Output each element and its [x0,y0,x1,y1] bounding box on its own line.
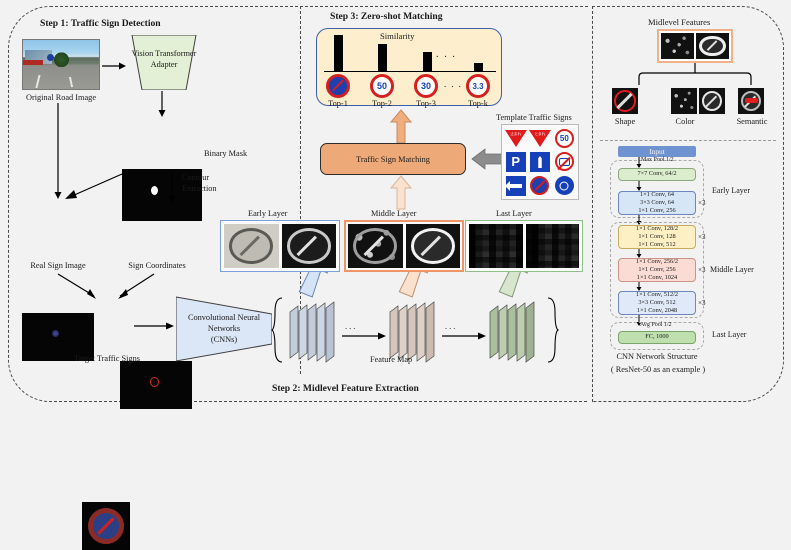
sign-coordinates-image [120,361,192,409]
contour-extraction-label-line2: Extraction [182,184,217,193]
rank-sign-ellipsis: . . . [444,80,462,90]
arrow-target-to-cnn [134,320,174,332]
cnn-label-line3: (CNNs) [176,335,272,344]
traffic-sign-matching-label: Traffic Sign Matching [356,155,430,164]
semantic-branch-label: Semantic [726,117,778,126]
cnn-block-conv5x-line3: 1×1 Conv, 2048 [619,307,695,315]
last-layer-label: Last Layer [496,209,532,218]
template-sign-yield-text: とまれ [532,132,548,137]
cnn-block-conv1: 7×7 Conv, 64/2 [618,168,696,181]
cnn-max-pool-label: Max Pool 1/2 [641,157,674,163]
cnn-block-conv3x-line3: 1×1 Conv, 512 [619,241,695,249]
cnn-block-conv4x-line3: 1×1 Conv, 1024 [619,274,695,282]
template-sign-pedestrian-crossing[interactable] [528,151,551,174]
template-traffic-signs-title: Template Traffic Signs [496,113,572,122]
rank-label-top-k: Top-k [460,99,496,108]
arrow-matching-to-similarity [390,110,412,144]
midlevel-features-title: Midlevel Features [648,18,710,27]
cnn-block-conv1-line1: 7×7 Conv, 64/2 [619,170,695,178]
midlevel-feature-tile-1 [661,33,694,59]
color-branch-label: Color [660,117,710,126]
template-traffic-signs-grid: 止まれ とまれ 50 P [501,124,579,200]
rank-label-top-1: Top-1 [320,99,356,108]
feature-map-label: Feature Map [370,355,412,364]
bar-top-3 [423,52,432,71]
feature-stack-early [288,298,342,371]
last-layer-panel [465,220,583,272]
rank-label-top-2: Top-2 [364,99,400,108]
arrow-vit-to-mask [156,91,168,117]
early-feature-tile-1 [224,224,279,268]
last-feature-tile-2 [526,224,580,268]
bar-chart-baseline [324,71,496,72]
template-sign-parking-text: P [506,152,526,172]
cnn-block-fc: FC, 1000 [618,331,696,344]
midlevel-branch-connector [625,63,771,87]
bar-chart-ellipsis: . . . [436,49,457,60]
middle-feature-tile-1 [348,224,403,268]
target-traffic-signs-label: Target Traffic Signs [62,354,152,363]
template-sign-yield[interactable]: とまれ [528,127,551,150]
cnn-block-conv4x-line1: 1×1 Conv, 256/2 [619,258,695,266]
cnn-block-conv5x-line2: 3×3 Conv, 512 [619,299,695,307]
sign-coordinates-label: Sign Coordinates [116,261,198,270]
arrow-coordinates-to-target [114,274,158,302]
arrow-mask-to-real-sign [62,172,124,204]
arrow-features-to-matching [390,176,412,210]
arrow-conv3x-to-conv4x [634,249,644,258]
cnn-structure-title: CNN Network Structure [607,352,707,361]
cnn-block-conv4x-line2: 1×1 Conv, 256 [619,266,695,274]
middle-layer-label: Middle Layer [371,209,416,218]
template-sign-no-parking[interactable] [528,174,551,197]
rank-sign-top-2: 50 [370,74,394,98]
rank-label-top-3: Top-3 [408,99,444,108]
vit-adapter-label-line1: Vision Transformer [122,49,206,58]
last-feature-tile-1 [469,224,523,268]
semantic-feature-tile [738,88,764,114]
early-layer-label: Early Layer [248,209,287,218]
middle-layer-panel [344,220,464,272]
template-sign-speed-limit-50-text: 50 [560,134,569,143]
template-sign-stop[interactable]: 止まれ [504,127,527,150]
cnn-block-conv3x-repeat: ×3 [698,233,705,241]
real-sign-image-label: Real Sign Image [16,261,100,270]
arrow-real-sign-to-target [58,274,102,302]
bar-top-2 [378,44,387,71]
rank-sign-top-1 [326,74,350,98]
bar-top-1 [334,35,343,71]
cnn-block-conv3x-line2: 1×1 Conv, 128 [619,233,695,241]
cnn-label-line2: Networks [176,324,272,333]
cnn-block-conv3x-line1: 1×1 Conv, 128/2 [619,225,695,233]
binary-mask-label: Binary Mask [204,149,247,158]
figure-canvas: Step 1: Traffic Sign Detection Original … [0,0,791,409]
rank-sign-top-2-text: 50 [377,81,387,91]
step1-title: Step 1: Traffic Sign Detection [40,18,161,29]
feature-map-brace [546,296,558,364]
midlevel-feature-tile-2 [696,33,729,59]
shape-branch-label: Shape [600,117,650,126]
cnn-output-brace [272,296,284,364]
similarity-bar-chart [326,33,494,71]
cnn-block-conv5x: 1×1 Conv, 512/2 3×3 Conv, 512 1×1 Conv, … [618,291,696,315]
color-feature-tiles [671,88,725,114]
cnn-label-line1: Convolutional Neural [176,313,272,322]
step3-title: Step 3: Zero-shot Matching [330,11,443,22]
cnn-structure-subtitle: ( ResNet-50 as an example ) [600,365,716,374]
rank-sign-top-k-text: 3.3 [472,82,483,91]
vit-adapter-label-line2: Adapter [122,60,206,69]
rank-sign-top-k: 3.3 [466,74,490,98]
contour-extraction-label-line1: Contour [182,173,209,182]
cnn-block-conv5x-repeat: ×3 [698,299,705,307]
feature-stack-last [488,298,542,371]
template-sign-parking[interactable]: P [504,151,527,174]
midlevel-cnn-divider [600,140,776,141]
original-road-image-label: Original Road Image [12,93,110,102]
cnn-input-block: Input [618,146,696,157]
cnn-block-conv3x: 1×1 Conv, 128/2 1×1 Conv, 128 1×1 Conv, … [618,225,696,249]
cnn-block-conv2x-line1: 1×1 Conv, 64 [619,191,695,199]
cnn-last-layer-label: Last Layer [712,330,746,339]
cnn-block-conv2x-line3: 1×1 Conv, 256 [619,207,695,215]
template-sign-no-bicycle[interactable] [553,151,576,174]
early-layer-panel [220,220,340,272]
step2-title: Step 2: Midlevel Feature Extraction [272,383,419,394]
right-panel-divider [592,6,593,402]
cnn-block-conv2x-line2: 3×3 Conv, 64 [619,199,695,207]
arrow-early-to-middle-stack [342,330,386,342]
cnn-block-conv5x-line1: 1×1 Conv, 512/2 [619,291,695,299]
midlevel-features-panel [657,29,733,63]
cnn-block-conv2x-repeat: ×3 [698,199,705,207]
arrow-conv1-to-conv2x [634,181,644,191]
cnn-block-conv2x: 1×1 Conv, 64 3×3 Conv, 64 1×1 Conv, 256 [618,191,696,215]
rank-sign-top-3: 30 [414,74,438,98]
arrow-middle-to-last-stack [442,330,486,342]
target-traffic-sign-image [82,502,130,550]
template-sign-roundabout[interactable] [553,174,576,197]
shape-feature-tile [612,88,638,114]
early-feature-tile-2 [282,224,337,268]
cnn-middle-layer-label: Middle Layer [710,265,754,274]
cnn-avg-pool-label: Avg Pool 1/2 [640,322,672,328]
template-sign-stop-text: 止まれ [508,132,524,137]
rank-sign-top-3-text: 30 [421,81,431,91]
cnn-block-conv4x: 1×1 Conv, 256/2 1×1 Conv, 256 1×1 Conv, … [618,258,696,282]
template-sign-left-arrow[interactable] [504,174,527,197]
original-road-image [22,39,100,90]
bar-top-k [474,63,483,71]
template-sign-speed-limit-50[interactable]: 50 [553,127,576,150]
arrow-mask-to-coordinates [166,171,178,203]
cnn-early-layer-label: Early Layer [712,186,750,195]
traffic-sign-matching-box[interactable]: Traffic Sign Matching [320,143,466,175]
middle-feature-tile-2 [406,224,461,268]
cnn-block-fc-label: FC, 1000 [619,333,695,341]
cnn-block-conv4x-repeat: ×3 [698,266,705,274]
cnn-input-label: Input [649,147,665,156]
arrow-conv4x-to-conv5x [634,282,644,291]
